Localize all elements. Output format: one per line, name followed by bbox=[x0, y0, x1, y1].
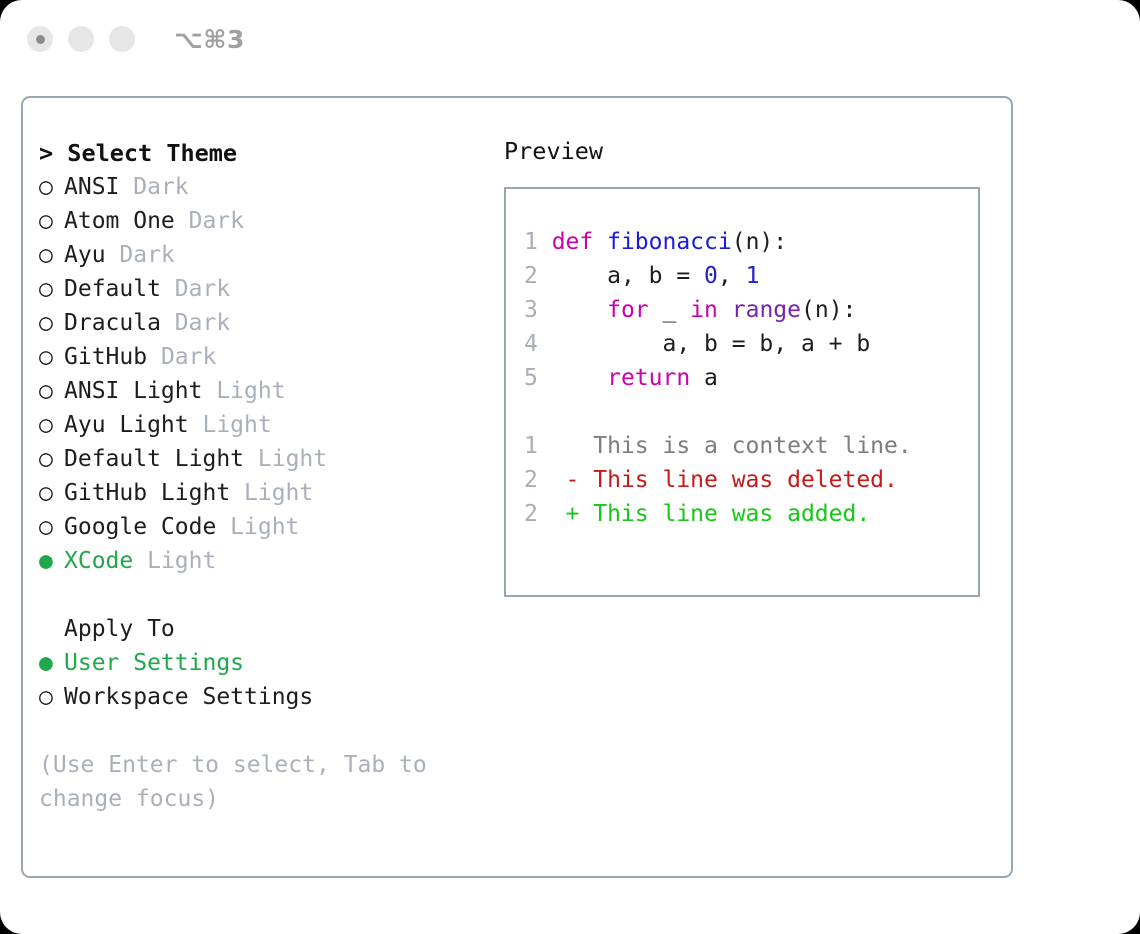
theme-kind-label: Light bbox=[216, 378, 285, 404]
diff-line-text: + This line was added. bbox=[566, 501, 871, 527]
code-line-number: 1 bbox=[524, 229, 552, 255]
apply-to-header: Apply To bbox=[39, 612, 509, 646]
code-line-number: 3 bbox=[524, 297, 552, 323]
radio-unselected-icon[interactable]: ○ bbox=[39, 680, 64, 714]
diff-line-text: This is a context line. bbox=[566, 433, 912, 459]
code-line: 2 a, b = 0, 1 bbox=[524, 259, 978, 293]
theme-kind-label: Dark bbox=[175, 276, 230, 302]
theme-kind-label: Light bbox=[230, 514, 299, 540]
theme-name: Ayu bbox=[64, 242, 119, 268]
code-sample: 1 def fibonacci(n):2 a, b = 0, 13 for _ … bbox=[524, 225, 978, 395]
theme-kind-label: Dark bbox=[133, 174, 188, 200]
theme-name: Atom One bbox=[64, 208, 189, 234]
theme-list-header: > Select Theme bbox=[39, 136, 509, 170]
code-line: 5 return a bbox=[524, 361, 978, 395]
code-token: a bbox=[690, 365, 718, 391]
preview-column: Preview 1 def fibonacci(n):2 a, b = 0, 1… bbox=[504, 136, 994, 597]
theme-list-item[interactable]: ●XCode Light bbox=[39, 544, 509, 578]
radio-unselected-icon[interactable]: ○ bbox=[39, 238, 64, 272]
radio-unselected-icon[interactable]: ○ bbox=[39, 272, 64, 306]
diff-line-number: 2 bbox=[524, 501, 566, 527]
keyboard-hint: (Use Enter to select, Tab to change focu… bbox=[39, 748, 459, 816]
theme-list: ○ANSI Dark○Atom One Dark○Ayu Dark○Defaul… bbox=[39, 170, 509, 578]
theme-list-item[interactable]: ○Ayu Light Light bbox=[39, 408, 509, 442]
code-token: for bbox=[607, 297, 649, 323]
preview-box: 1 def fibonacci(n):2 a, b = 0, 13 for _ … bbox=[504, 187, 980, 597]
theme-name: Dracula bbox=[64, 310, 175, 336]
theme-list-column: > Select Theme ○ANSI Dark○Atom One Dark○… bbox=[39, 136, 509, 816]
code-token bbox=[552, 297, 607, 323]
apply-to-list: ●User Settings○Workspace Settings bbox=[39, 646, 509, 714]
code-token: , bbox=[718, 263, 746, 289]
radio-unselected-icon[interactable]: ○ bbox=[39, 204, 64, 238]
hint-gap bbox=[39, 714, 509, 748]
apply-to-option[interactable]: ○Workspace Settings bbox=[39, 680, 509, 714]
theme-list-item[interactable]: ○Default Light Light bbox=[39, 442, 509, 476]
radio-unselected-icon[interactable]: ○ bbox=[39, 170, 64, 204]
keyboard-shortcut-label: ⌥⌘3 bbox=[174, 25, 245, 54]
theme-name: GitHub bbox=[64, 344, 161, 370]
code-token: range bbox=[732, 297, 801, 323]
code-token bbox=[552, 365, 607, 391]
theme-name: GitHub Light bbox=[64, 480, 244, 506]
window-dot-second-icon[interactable] bbox=[68, 26, 94, 52]
theme-name: Default Light bbox=[64, 446, 258, 472]
diff-sample: 1 This is a context line.2 - This line w… bbox=[524, 429, 978, 531]
theme-name: Default bbox=[64, 276, 175, 302]
window-dot-third-icon[interactable] bbox=[109, 26, 135, 52]
radio-unselected-icon[interactable]: ○ bbox=[39, 340, 64, 374]
diff-line: 1 This is a context line. bbox=[524, 429, 978, 463]
theme-kind-label: Dark bbox=[175, 310, 230, 336]
code-token: in bbox=[690, 297, 718, 323]
theme-list-item[interactable]: ○ANSI Dark bbox=[39, 170, 509, 204]
title-bar: ⌥⌘3 bbox=[0, 0, 1140, 78]
app-window: ⌥⌘3 > Select Theme ○ANSI Dark○Atom One D… bbox=[0, 0, 1140, 934]
apply-to-label: Workspace Settings bbox=[64, 684, 313, 710]
radio-unselected-icon[interactable]: ○ bbox=[39, 374, 64, 408]
theme-list-item[interactable]: ○GitHub Dark bbox=[39, 340, 509, 374]
theme-list-item[interactable]: ○ANSI Light Light bbox=[39, 374, 509, 408]
theme-kind-label: Dark bbox=[119, 242, 174, 268]
theme-kind-label: Light bbox=[244, 480, 313, 506]
code-diff-separator bbox=[524, 395, 978, 429]
theme-list-item[interactable]: ○Dracula Dark bbox=[39, 306, 509, 340]
code-token: _ bbox=[649, 297, 691, 323]
theme-name: ANSI Light bbox=[64, 378, 216, 404]
apply-to-label: User Settings bbox=[64, 650, 244, 676]
code-line-number: 5 bbox=[524, 365, 552, 391]
section-gap bbox=[39, 578, 509, 612]
code-line-number: 2 bbox=[524, 263, 552, 289]
radio-unselected-icon[interactable]: ○ bbox=[39, 442, 64, 476]
diff-line-number: 2 bbox=[524, 467, 566, 493]
preview-title: Preview bbox=[504, 136, 994, 166]
diff-line-number: 1 bbox=[524, 433, 566, 459]
radio-selected-icon[interactable]: ● bbox=[39, 544, 64, 578]
window-dot-active-icon[interactable] bbox=[27, 26, 53, 52]
theme-list-item[interactable]: ○Ayu Dark bbox=[39, 238, 509, 272]
radio-unselected-icon[interactable]: ○ bbox=[39, 408, 64, 442]
window-dot-active-inner bbox=[36, 35, 45, 44]
theme-kind-label: Light bbox=[258, 446, 327, 472]
theme-kind-label: Dark bbox=[161, 344, 216, 370]
code-line: 1 def fibonacci(n): bbox=[524, 225, 978, 259]
diff-line-text: - This line was deleted. bbox=[566, 467, 898, 493]
theme-name: Ayu Light bbox=[64, 412, 202, 438]
theme-list-item[interactable]: ○Default Dark bbox=[39, 272, 509, 306]
theme-kind-label: Light bbox=[147, 548, 216, 574]
theme-name: XCode bbox=[64, 548, 147, 574]
theme-list-item[interactable]: ○GitHub Light Light bbox=[39, 476, 509, 510]
diff-line: 2 + This line was added. bbox=[524, 497, 978, 531]
theme-name: Google Code bbox=[64, 514, 230, 540]
radio-selected-icon[interactable]: ● bbox=[39, 646, 64, 680]
theme-name: ANSI bbox=[64, 174, 133, 200]
theme-kind-label: Light bbox=[202, 412, 271, 438]
radio-unselected-icon[interactable]: ○ bbox=[39, 510, 64, 544]
code-line-number: 4 bbox=[524, 331, 552, 357]
apply-to-option[interactable]: ●User Settings bbox=[39, 646, 509, 680]
code-token: a, b = bbox=[552, 263, 704, 289]
code-line: 3 for _ in range(n): bbox=[524, 293, 978, 327]
code-token: a, b = b, a + b bbox=[552, 331, 871, 357]
theme-kind-label: Dark bbox=[189, 208, 244, 234]
code-token: 0 bbox=[704, 263, 718, 289]
code-token bbox=[718, 297, 732, 323]
theme-list-item[interactable]: ○Atom One Dark bbox=[39, 204, 509, 238]
theme-list-item[interactable]: ○Google Code Light bbox=[39, 510, 509, 544]
radio-unselected-icon[interactable]: ○ bbox=[39, 476, 64, 510]
code-token: (n): bbox=[732, 229, 787, 255]
radio-unselected-icon[interactable]: ○ bbox=[39, 306, 64, 340]
code-token: fibonacci bbox=[607, 229, 732, 255]
code-token: return bbox=[607, 365, 690, 391]
code-line: 4 a, b = b, a + b bbox=[524, 327, 978, 361]
theme-selector-panel: > Select Theme ○ANSI Dark○Atom One Dark○… bbox=[21, 96, 1013, 878]
code-token: (n): bbox=[801, 297, 856, 323]
diff-line: 2 - This line was deleted. bbox=[524, 463, 978, 497]
code-token: def bbox=[552, 229, 607, 255]
code-token: 1 bbox=[746, 263, 760, 289]
